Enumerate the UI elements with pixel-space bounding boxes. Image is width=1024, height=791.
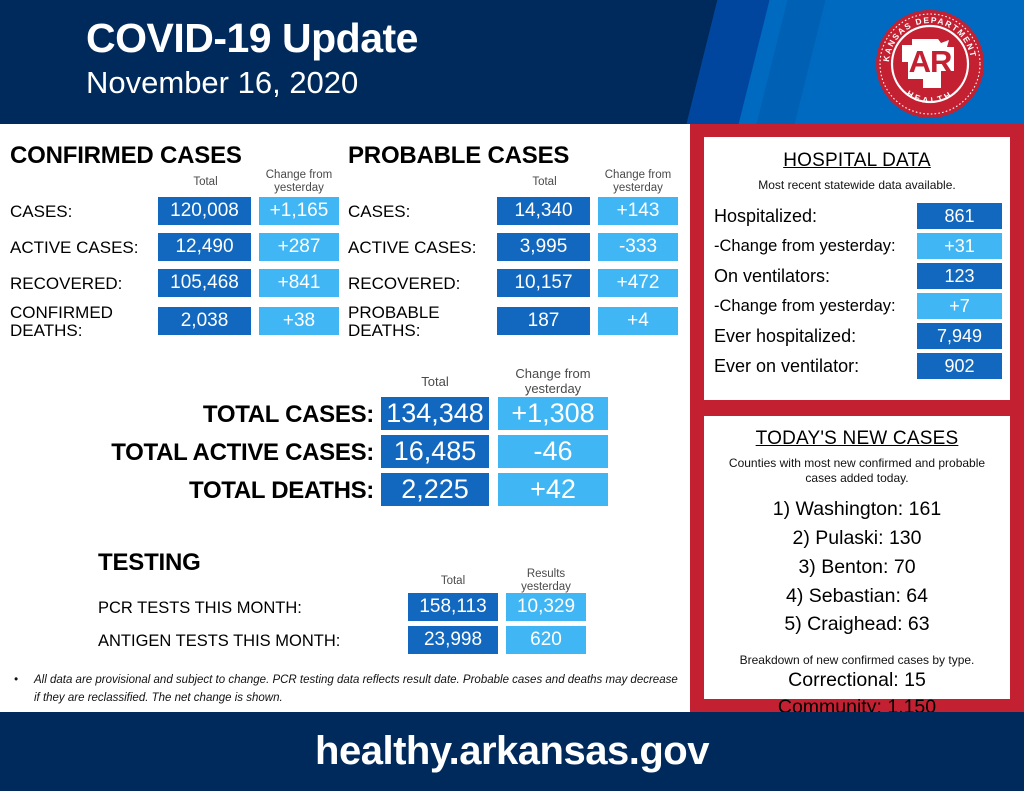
hospitalized-label: Hospitalized: — [714, 203, 817, 229]
probable-row-label: CASES: — [348, 203, 410, 221]
county-list-item: 1) Washington: 161 — [704, 495, 1010, 524]
confirmed-active-total: 12,490 — [158, 233, 251, 261]
hospitalized-change-value: +31 — [917, 233, 1002, 259]
hospitalized-change-label: -Change from yesterday: — [714, 233, 896, 259]
report-date: November 16, 2020 — [86, 65, 418, 101]
left-content: CONFIRMED CASES Total Change from yester… — [0, 124, 690, 712]
todays-new-cases-panel: TODAY'S NEW CASES Counties with most new… — [704, 416, 1010, 699]
total-active-cases-value: 16,485 — [381, 435, 489, 468]
probable-total-column-header: Total — [497, 176, 592, 189]
totals-change-column-header: Change from yesterday — [498, 367, 608, 396]
total-deaths-value: 2,225 — [381, 473, 489, 506]
confirmed-recovered-total: 105,468 — [158, 269, 251, 297]
probable-cases-total: 14,340 — [497, 197, 590, 225]
todays-new-cases-subtitle: Counties with most new confirmed and pro… — [704, 456, 1010, 486]
header-title-block: COVID-19 Update November 16, 2020 — [86, 16, 418, 101]
testing-heading: TESTING — [98, 549, 201, 577]
probable-row-label: PROBABLE DEATHS: — [348, 304, 493, 340]
confirmed-deaths-change: +38 — [259, 307, 339, 335]
confirmed-row-label: CONFIRMED DEATHS: — [10, 304, 155, 340]
total-deaths-label: TOTAL DEATHS: — [60, 477, 374, 505]
hospital-row: On ventilators: 123 — [704, 263, 1010, 293]
confirmed-row-label: CASES: — [10, 203, 72, 221]
confirmed-cases-heading: CONFIRMED CASES — [10, 142, 242, 170]
antigen-tests-label: ANTIGEN TESTS THIS MONTH: — [98, 632, 340, 651]
on-ventilators-label: On ventilators: — [714, 263, 830, 289]
probable-deaths-total: 187 — [497, 307, 590, 335]
ventilators-change-value: +7 — [917, 293, 1002, 319]
footnote: • All data are provisional and subject t… — [14, 672, 678, 708]
hospital-row: -Change from yesterday: +7 — [704, 293, 1010, 323]
probable-cases-change: +143 — [598, 197, 678, 225]
total-deaths-change: +42 — [498, 473, 608, 506]
probable-active-total: 3,995 — [497, 233, 590, 261]
antigen-tests-total: 23,998 — [408, 626, 498, 654]
probable-active-change: -333 — [598, 233, 678, 261]
page-title: COVID-19 Update — [86, 16, 418, 61]
footnote-text: All data are provisional and subject to … — [34, 672, 678, 708]
probable-row-label: RECOVERED: — [348, 275, 460, 293]
testing-results-column-header: Results yesterday — [506, 568, 586, 594]
total-active-cases-change: -46 — [498, 435, 608, 468]
totals-total-column-header: Total — [381, 375, 489, 390]
county-list-item: 3) Benton: 70 — [704, 553, 1010, 582]
pcr-tests-results: 10,329 — [506, 593, 586, 621]
probable-change-column-header: Change from yesterday — [598, 169, 678, 195]
website-url: healthy.arkansas.gov — [315, 729, 709, 774]
total-active-cases-label: TOTAL ACTIVE CASES: — [60, 439, 374, 467]
todays-new-cases-title: TODAY'S NEW CASES — [704, 428, 1010, 450]
confirmed-deaths-total: 2,038 — [158, 307, 251, 335]
total-cases-change: +1,308 — [498, 397, 608, 430]
confirmed-change-column-header: Change from yesterday — [259, 169, 339, 195]
county-list-item: 4) Sebastian: 64 — [704, 582, 1010, 611]
hospital-row: Ever on ventilator: 902 — [704, 353, 1010, 383]
hospital-row: Hospitalized: 861 — [704, 203, 1010, 233]
probable-recovered-change: +472 — [598, 269, 678, 297]
ever-on-ventilator-value: 902 — [917, 353, 1002, 379]
breakdown-correctional: Correctional: 15 — [704, 667, 1010, 694]
probable-deaths-change: +4 — [598, 307, 678, 335]
ever-hospitalized-label: Ever hospitalized: — [714, 323, 856, 349]
pcr-tests-total: 158,113 — [408, 593, 498, 621]
testing-total-column-header: Total — [408, 575, 498, 588]
hospital-data-title: HOSPITAL DATA — [704, 150, 1010, 172]
antigen-tests-results: 620 — [506, 626, 586, 654]
breakdown-subtitle: Breakdown of new confirmed cases by type… — [704, 653, 1010, 667]
county-list-item: 2) Pulaski: 130 — [704, 524, 1010, 553]
right-panels: HOSPITAL DATA Most recent statewide data… — [690, 124, 1024, 712]
svg-text:AR: AR — [909, 44, 952, 79]
page-footer: healthy.arkansas.gov — [0, 712, 1024, 791]
confirmed-row-label: ACTIVE CASES: — [10, 239, 138, 257]
confirmed-cases-change: +1,165 — [259, 197, 339, 225]
total-cases-value: 134,348 — [381, 397, 489, 430]
confirmed-total-column-header: Total — [158, 176, 253, 189]
page-header: COVID-19 Update November 16, 2020 AR · A… — [0, 0, 1024, 124]
ever-on-ventilator-label: Ever on ventilator: — [714, 353, 859, 379]
total-cases-label: TOTAL CASES: — [60, 401, 374, 429]
probable-row-label: ACTIVE CASES: — [348, 239, 476, 257]
confirmed-active-change: +287 — [259, 233, 339, 261]
footnote-bullet: • — [14, 672, 18, 690]
confirmed-cases-total: 120,008 — [158, 197, 251, 225]
hospital-data-panel: HOSPITAL DATA Most recent statewide data… — [704, 137, 1010, 400]
ever-hospitalized-value: 7,949 — [917, 323, 1002, 349]
probable-cases-heading: PROBABLE CASES — [348, 142, 569, 170]
hospitalized-value: 861 — [917, 203, 1002, 229]
pcr-tests-label: PCR TESTS THIS MONTH: — [98, 599, 302, 618]
arkansas-department-of-health-seal-icon: AR · ARKANSAS DEPARTMENT OF · HEALTH — [875, 9, 985, 119]
hospital-row: -Change from yesterday: +31 — [704, 233, 1010, 263]
on-ventilators-value: 123 — [917, 263, 1002, 289]
confirmed-recovered-change: +841 — [259, 269, 339, 297]
ventilators-change-label: -Change from yesterday: — [714, 293, 896, 319]
hospital-data-subtitle: Most recent statewide data available. — [704, 178, 1010, 193]
hospital-row: Ever hospitalized: 7,949 — [704, 323, 1010, 353]
probable-recovered-total: 10,157 — [497, 269, 590, 297]
confirmed-row-label: RECOVERED: — [10, 275, 122, 293]
county-list-item: 5) Craighead: 63 — [704, 610, 1010, 639]
